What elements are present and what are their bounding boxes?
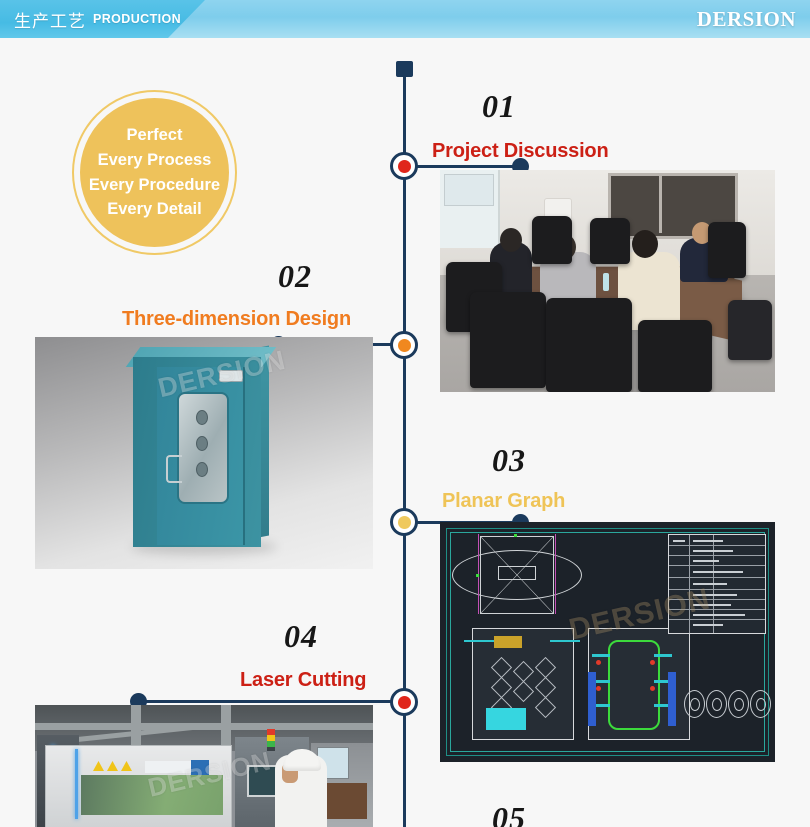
step-number-03: 03 [492,442,526,479]
step-number-05: 05 [492,800,526,827]
header-title-group: 生产工艺 PRODUCTION [14,0,181,38]
step-title-02: Three-dimension Design [122,308,351,331]
step-number-02: 02 [278,258,312,295]
brand-logo: DERSION [697,0,796,38]
spec-row-line-5 [669,589,765,590]
factory-shelf [325,783,367,819]
person-1-head [500,228,522,252]
step-title-03: Planar Graph [442,490,565,513]
cad-tick-1 [514,534,517,537]
node-fill-02 [398,339,411,352]
timeline-node-01[interactable] [390,152,418,180]
spec-row-line-7 [669,609,765,610]
machine-neon-strip-2 [75,749,78,819]
chair-front-3 [546,298,632,392]
cad-spec-table [668,534,766,634]
cad-marker-4 [650,686,655,691]
cad-dim-line-left [464,640,494,642]
header-title-cn: 生产工艺 [14,7,86,32]
cad-detail-c [728,690,749,718]
control-panel [219,370,243,382]
spec-text-1 [673,540,685,542]
door-handle [166,455,182,483]
cad-display-panel [486,708,526,730]
media-meeting-room-photo[interactable] [440,170,775,392]
spec-row-line-4 [669,577,765,578]
cad-marker-1 [596,660,601,665]
spec-row-line-3 [669,565,765,566]
connector-step-01 [404,165,522,168]
spec-text-6 [693,583,727,585]
cad-marker-2 [650,660,655,665]
cad-dim-line-right [550,640,580,642]
badge-line-1: Perfect [127,124,183,147]
meeting-window [444,174,494,206]
production-process-page: 生产工艺 PRODUCTION DERSION Perfect Every Pr… [0,0,810,827]
chair-front-2 [470,292,546,388]
nozzle-1 [196,410,208,425]
badge-disc: Perfect Every Process Every Procedure Ev… [80,98,229,247]
machine-glass-panel [81,775,223,815]
spec-row-line-2 [669,555,765,556]
media-laser-cutting-photo[interactable]: DERSION [35,705,373,827]
chair-back-2 [590,218,630,264]
header-title-en: PRODUCTION [93,12,181,26]
cad-side-outline [608,640,660,730]
badge-line-2: Every Process [98,149,212,172]
cad-top-view-center [498,566,536,580]
nozzle-3 [196,462,208,477]
spec-text-8 [693,604,731,606]
signal-tower-light [267,729,275,751]
nozzle-2 [196,436,208,451]
cad-detail-b [706,690,727,718]
step-number-04: 04 [284,618,318,655]
chair-front-4 [638,320,712,392]
tower-green [267,741,275,747]
spec-text-10 [693,624,723,626]
cad-side-blue-left [588,672,596,726]
badge-line-3: Every Procedure [89,174,220,197]
spec-row-line-6 [669,599,765,600]
spec-text-4 [693,560,719,562]
spec-text-9 [693,614,745,616]
spec-row-line-1 [669,545,765,546]
spec-text-7 [693,594,737,596]
spec-row-line-8 [669,619,765,620]
spec-col-line-1 [689,535,690,633]
node-fill-01 [398,160,411,173]
person-3-head [632,230,658,258]
step-title-01: Project Discussion [432,140,608,163]
cad-side-rail-2 [654,654,672,657]
spec-text-2 [693,540,723,542]
cad-detail-d [750,690,771,718]
step-number-01: 01 [482,88,516,125]
ceiling-beam-1 [35,723,373,730]
page-header: 生产工艺 PRODUCTION DERSION [0,0,810,38]
water-bottle [603,273,609,291]
node-fill-03 [398,516,411,529]
cad-detail-a [684,690,705,718]
timeline-node-02[interactable] [390,331,418,359]
cad-marker-3 [596,686,601,691]
chair-back-1 [532,216,572,264]
step-title-04: Laser Cutting [240,669,366,692]
cad-side-blue-right [668,672,676,726]
machine-brand-logo [191,760,209,775]
machine-label-strip [145,761,197,773]
chair-back-3 [708,222,746,278]
node-fill-04 [398,696,411,709]
media-cad-drawing[interactable]: DERSION [440,522,775,762]
connector-step-04 [138,700,404,703]
spec-text-5 [693,571,743,573]
timeline-node-03[interactable] [390,508,418,536]
cad-front-panel [494,636,522,648]
media-3d-render-air-shower[interactable]: DERSION [35,337,373,569]
quality-badge: Perfect Every Process Every Procedure Ev… [72,90,237,255]
cad-tick-2 [476,574,479,577]
timeline-node-04[interactable] [390,688,418,716]
badge-line-4: Every Detail [107,198,201,221]
spec-text-3 [693,550,733,552]
timeline-top-cap [396,61,413,77]
cad-side-rail-1 [592,654,610,657]
chair-right [728,300,772,360]
